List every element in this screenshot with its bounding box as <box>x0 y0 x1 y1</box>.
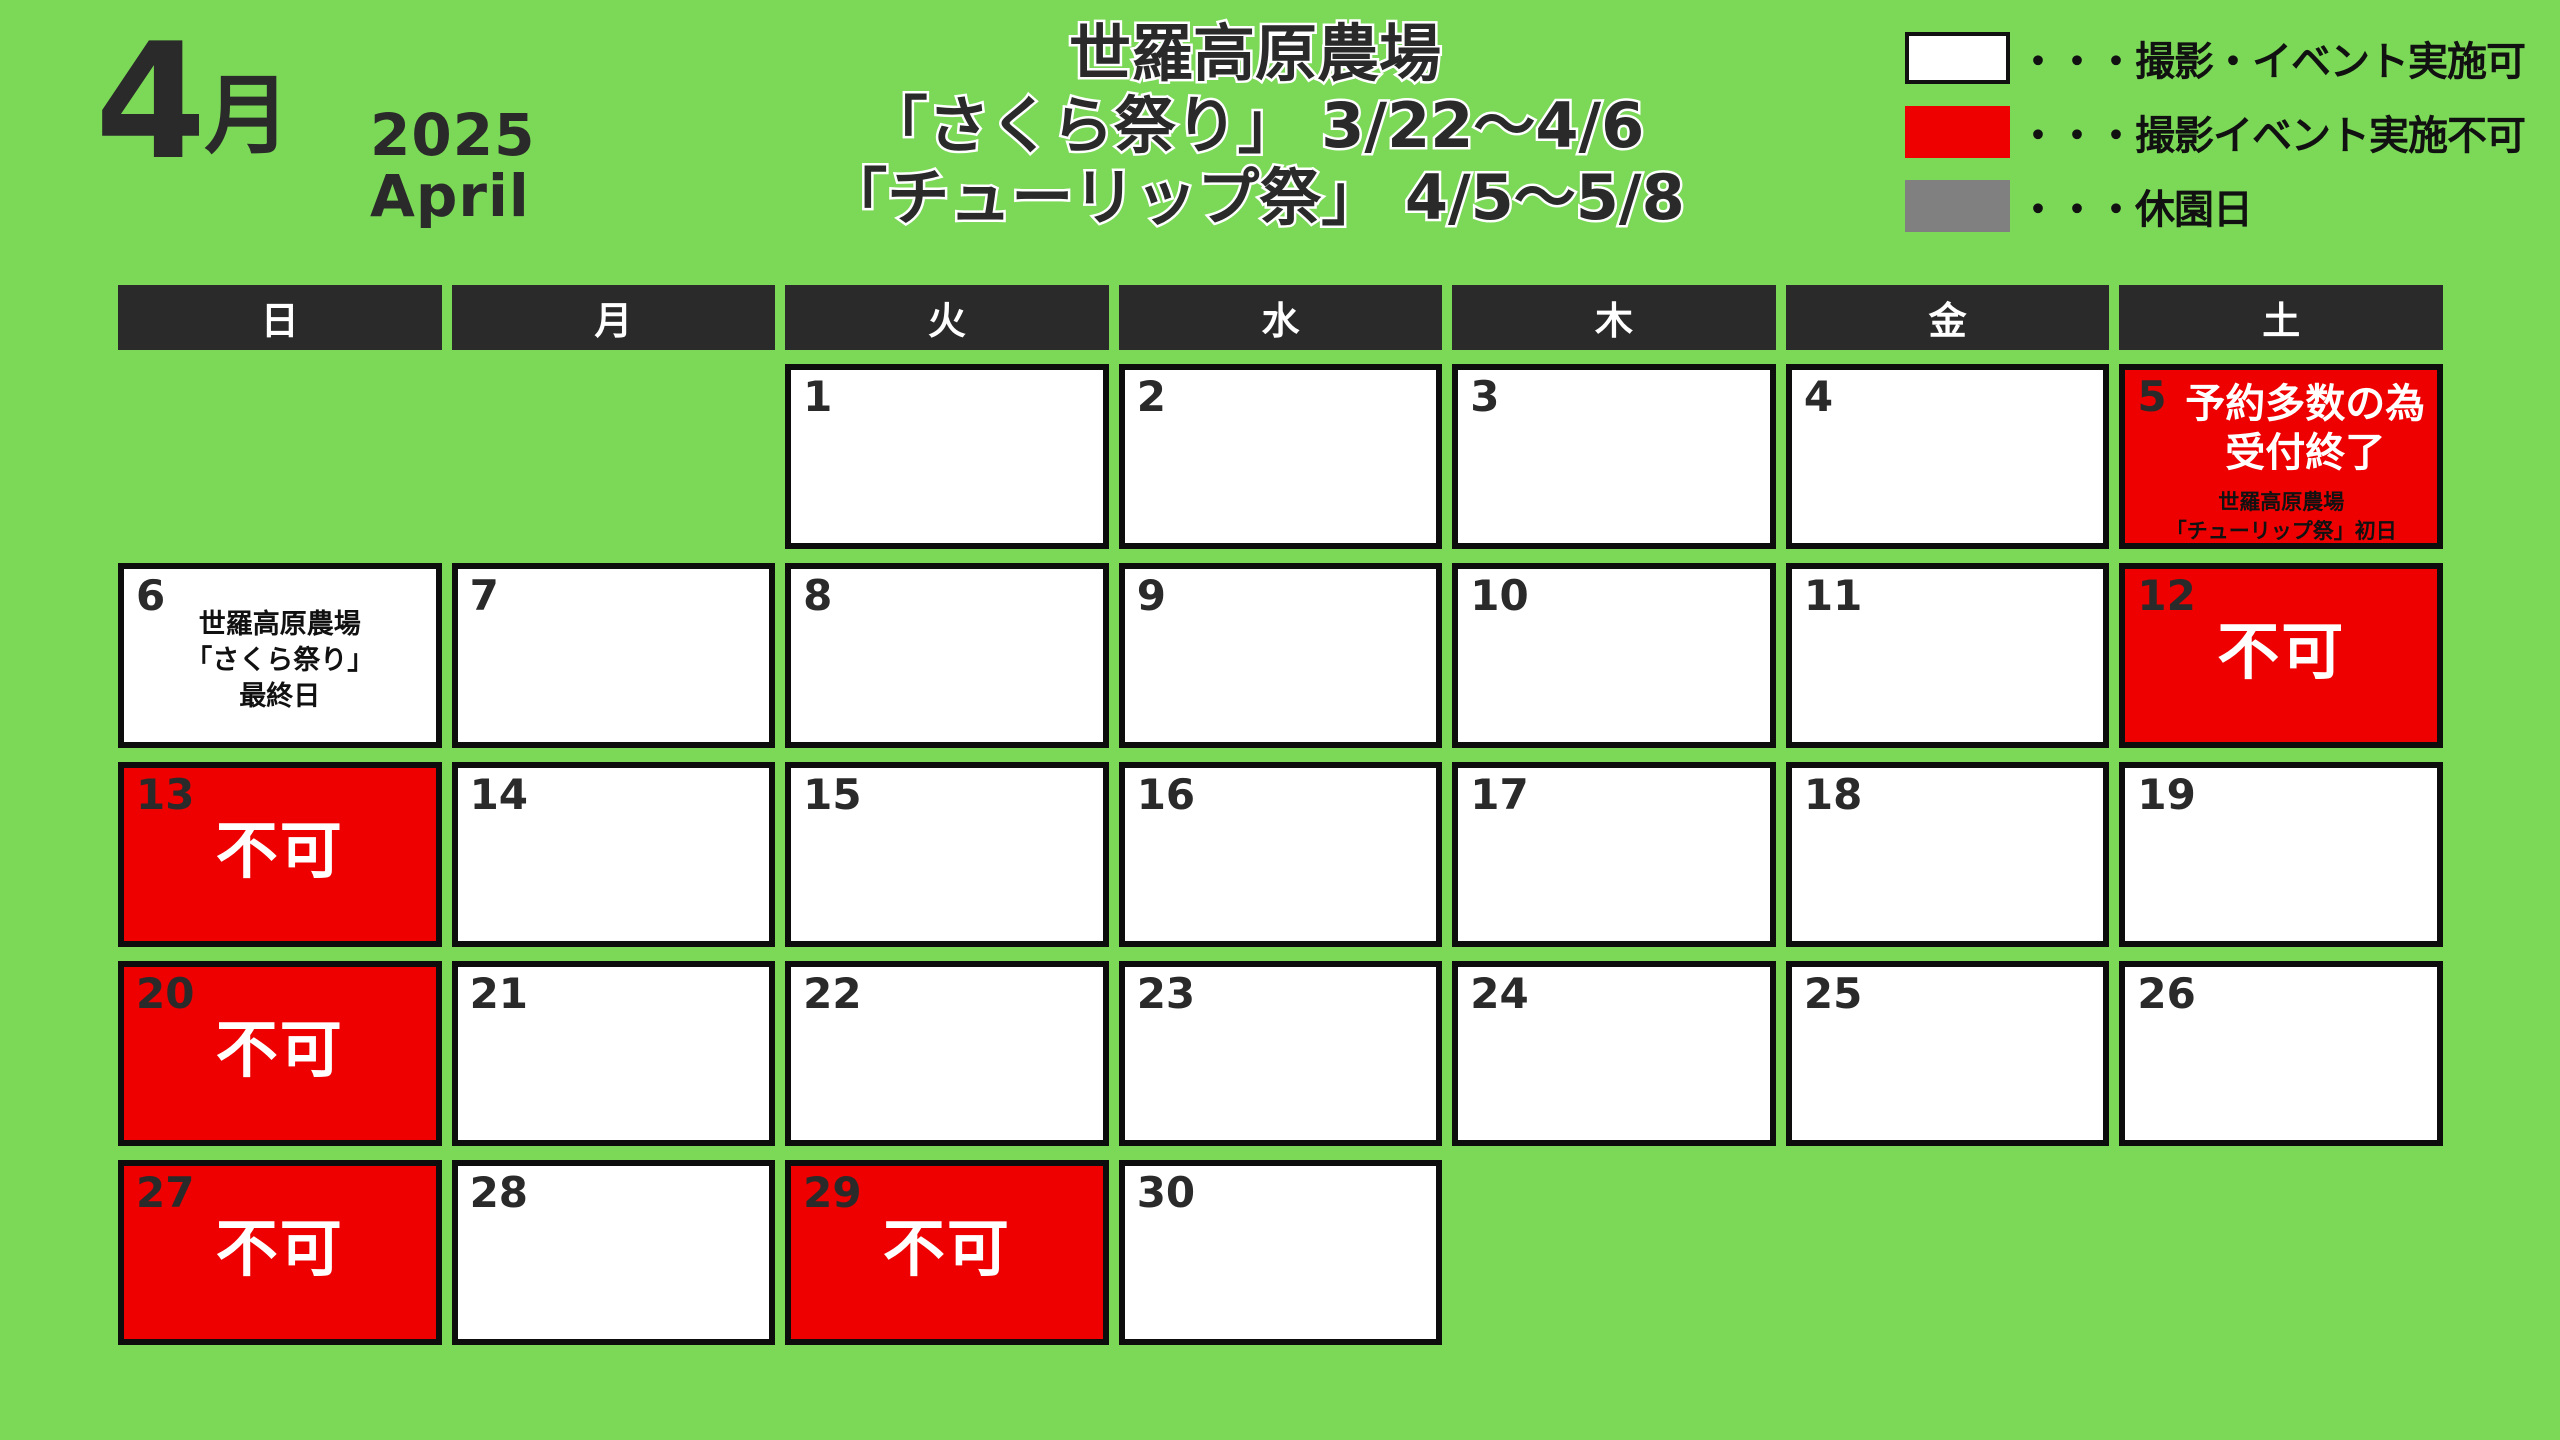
calendar-day-10[interactable]: 10 <box>1452 563 1776 748</box>
day-number: 11 <box>1804 573 1862 619</box>
month-number: 4 <box>95 40 202 165</box>
calendar-day-6[interactable]: 6世羅高原農場「さくら祭り」最終日 <box>118 563 442 748</box>
day-number: 3 <box>1470 374 1499 420</box>
weekday-header-6: 土 <box>2119 285 2443 350</box>
day-status-mark: 不可 <box>791 1218 1103 1280</box>
weekday-header-4: 木 <box>1452 285 1776 350</box>
white-swatch-icon <box>1905 32 2010 84</box>
day-number: 12 <box>2137 573 2195 619</box>
day-status-mark: 不可 <box>124 820 436 882</box>
day-number: 8 <box>803 573 832 619</box>
calendar-day-15[interactable]: 15 <box>785 762 1109 947</box>
page-header: 4 月 2025 April 世羅高原農場 「さくら祭り」 3/22〜4/6 「… <box>0 0 2560 290</box>
legend-label-closed: ・・・休園日 <box>2018 177 2252 235</box>
calendar-cell-empty <box>118 364 442 549</box>
legend-item-allowed: ・・・撮影・イベント実施可 <box>1905 30 2525 86</box>
legend-item-closed: ・・・休園日 <box>1905 178 2525 234</box>
day-status-message: 予約多数の為受付終了 <box>2177 380 2433 478</box>
day-number: 25 <box>1804 971 1862 1017</box>
calendar-day-3[interactable]: 3 <box>1452 364 1776 549</box>
legend-item-not-allowed: ・・・撮影イベント実施不可 <box>1905 104 2525 160</box>
calendar-day-16[interactable]: 16 <box>1119 762 1443 947</box>
title-line-sakura: 「さくら祭り」 3/22〜4/6 <box>640 90 1870 162</box>
calendar-day-23[interactable]: 23 <box>1119 961 1443 1146</box>
day-number: 15 <box>803 772 861 818</box>
calendar-day-8[interactable]: 8 <box>785 563 1109 748</box>
event-title: 世羅高原農場 「さくら祭り」 3/22〜4/6 「チューリップ祭」 4/5〜5/… <box>640 18 1870 234</box>
legend-label-not-allowed: ・・・撮影イベント実施不可 <box>2018 103 2525 161</box>
calendar-day-25[interactable]: 25 <box>1786 961 2110 1146</box>
calendar-day-1[interactable]: 1 <box>785 364 1109 549</box>
calendar-day-4[interactable]: 4 <box>1786 364 2110 549</box>
gray-swatch-icon <box>1905 180 2010 232</box>
day-number: 23 <box>1137 971 1195 1017</box>
calendar-day-29[interactable]: 29不可 <box>785 1160 1109 1345</box>
calendar-cell-empty <box>1786 1160 2110 1345</box>
calendar-grid: 日月火水木金土12345予約多数の為受付終了世羅高原農場「チューリップ祭」初日6… <box>118 285 2443 1345</box>
month-display: 4 月 <box>95 40 290 165</box>
title-line-tulip: 「チューリップ祭」 4/5〜5/8 <box>640 162 1870 234</box>
day-number: 7 <box>470 573 499 619</box>
red-swatch-icon <box>1905 106 2010 158</box>
month-english-text: April <box>370 166 535 227</box>
calendar-day-11[interactable]: 11 <box>1786 563 2110 748</box>
calendar-cell-empty <box>2119 1160 2443 1345</box>
day-number: 16 <box>1137 772 1195 818</box>
calendar-day-14[interactable]: 14 <box>452 762 776 947</box>
day-number: 29 <box>803 1170 861 1216</box>
calendar-day-17[interactable]: 17 <box>1452 762 1776 947</box>
calendar-day-19[interactable]: 19 <box>2119 762 2443 947</box>
day-number: 4 <box>1804 374 1833 420</box>
calendar-day-28[interactable]: 28 <box>452 1160 776 1345</box>
day-number: 24 <box>1470 971 1528 1017</box>
day-number: 17 <box>1470 772 1528 818</box>
calendar-day-9[interactable]: 9 <box>1119 563 1443 748</box>
calendar-day-30[interactable]: 30 <box>1119 1160 1443 1345</box>
calendar-cell-empty <box>452 364 776 549</box>
day-number: 14 <box>470 772 528 818</box>
calendar-day-24[interactable]: 24 <box>1452 961 1776 1146</box>
weekday-header-5: 金 <box>1786 285 2110 350</box>
calendar-cell-empty <box>1452 1160 1776 1345</box>
day-status-mark: 不可 <box>2125 621 2437 683</box>
day-number: 27 <box>136 1170 194 1216</box>
day-event-note: 世羅高原農場「チューリップ祭」初日 <box>2125 488 2437 546</box>
day-number: 26 <box>2137 971 2195 1017</box>
month-kanji: 月 <box>204 73 290 159</box>
calendar-day-22[interactable]: 22 <box>785 961 1109 1146</box>
calendar-day-2[interactable]: 2 <box>1119 364 1443 549</box>
day-number: 30 <box>1137 1170 1195 1216</box>
year-display: 2025 April <box>370 105 535 227</box>
day-number: 1 <box>803 374 832 420</box>
year-text: 2025 <box>370 105 535 166</box>
calendar-day-20[interactable]: 20不可 <box>118 961 442 1146</box>
weekday-header-2: 火 <box>785 285 1109 350</box>
day-number: 9 <box>1137 573 1166 619</box>
calendar-day-5[interactable]: 5予約多数の為受付終了世羅高原農場「チューリップ祭」初日 <box>2119 364 2443 549</box>
day-number: 13 <box>136 772 194 818</box>
calendar-day-21[interactable]: 21 <box>452 961 776 1146</box>
day-number: 22 <box>803 971 861 1017</box>
calendar-day-18[interactable]: 18 <box>1786 762 2110 947</box>
day-event-note: 世羅高原農場「さくら祭り」最終日 <box>124 607 436 716</box>
day-number: 20 <box>136 971 194 1017</box>
day-number: 10 <box>1470 573 1528 619</box>
calendar-day-13[interactable]: 13不可 <box>118 762 442 947</box>
title-line-farm: 世羅高原農場 <box>640 18 1870 90</box>
day-number: 21 <box>470 971 528 1017</box>
legend: ・・・撮影・イベント実施可 ・・・撮影イベント実施不可 ・・・休園日 <box>1905 30 2525 252</box>
day-number: 5 <box>2137 374 2166 420</box>
day-status-mark: 不可 <box>124 1019 436 1081</box>
weekday-header-3: 水 <box>1119 285 1443 350</box>
day-status-mark: 不可 <box>124 1218 436 1280</box>
day-number: 28 <box>470 1170 528 1216</box>
day-number: 18 <box>1804 772 1862 818</box>
calendar-day-27[interactable]: 27不可 <box>118 1160 442 1345</box>
weekday-header-1: 月 <box>452 285 776 350</box>
weekday-header-0: 日 <box>118 285 442 350</box>
calendar-day-7[interactable]: 7 <box>452 563 776 748</box>
day-number: 19 <box>2137 772 2195 818</box>
legend-label-allowed: ・・・撮影・イベント実施可 <box>2018 29 2525 87</box>
calendar-day-26[interactable]: 26 <box>2119 961 2443 1146</box>
day-number: 2 <box>1137 374 1166 420</box>
calendar-day-12[interactable]: 12不可 <box>2119 563 2443 748</box>
